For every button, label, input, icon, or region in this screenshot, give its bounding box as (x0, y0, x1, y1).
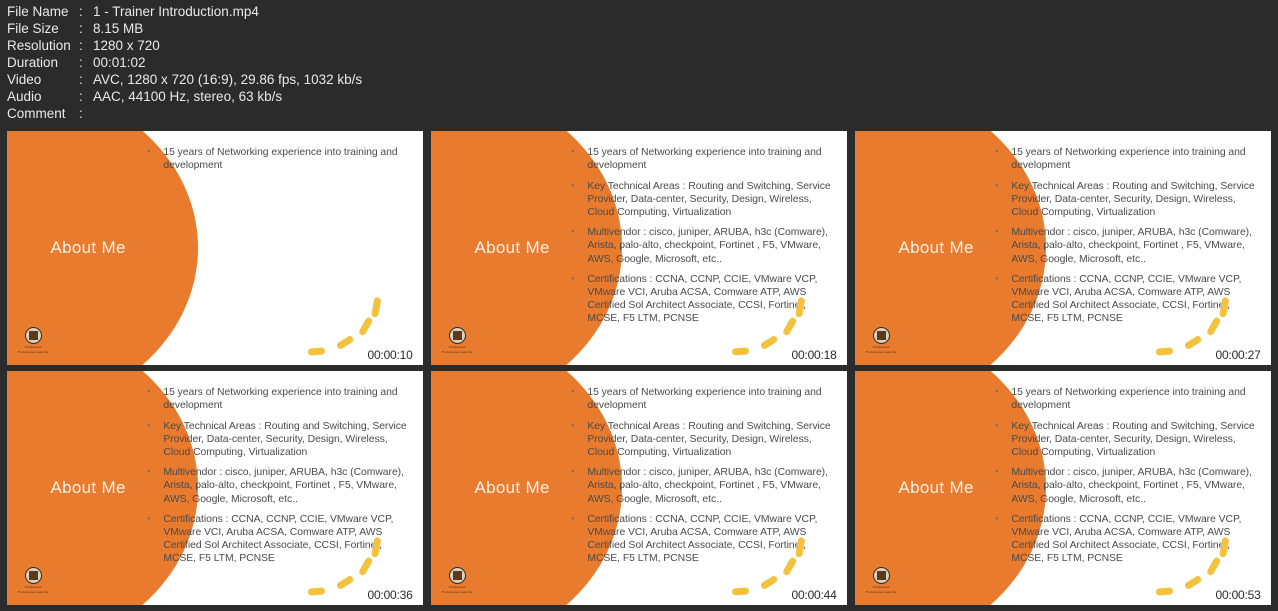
metadata-colon: : (79, 37, 93, 54)
video-thumbnail[interactable]: About Me15 years of Networking experienc… (431, 371, 847, 605)
slide-canvas: About Me15 years of Networking experienc… (431, 131, 847, 365)
metadata-row: Audio:AAC, 44100 Hz, stereo, 63 kb/s (7, 88, 1278, 105)
metadata-colon: : (79, 105, 93, 122)
metadata-row: File Name:1 - Trainer Introduction.mp4 (7, 3, 1278, 20)
metadata-label: Resolution (7, 37, 79, 54)
yellow-arc-dash-decoration (336, 334, 355, 349)
slide-bullet-item: 15 years of Networking experience into t… (570, 386, 834, 412)
metadata-label: File Size (7, 20, 79, 37)
metadata-row: Video:AVC, 1280 x 720 (16:9), 29.86 fps,… (7, 71, 1278, 88)
logo-caption-secondary: Professional Learning (440, 590, 474, 594)
yellow-arc-dash-decoration (358, 317, 373, 337)
slide-bullet-item: Key Technical Areas : Routing and Switch… (994, 420, 1258, 460)
logo-caption-primary: Zl-Networks (440, 345, 474, 349)
yellow-arc-dash-decoration (1156, 587, 1173, 595)
video-thumbnail[interactable]: About Me15 years of Networking experienc… (431, 131, 847, 365)
yellow-arc-dash-decoration (336, 574, 355, 589)
zl-networks-logo-icon: Zl-NetworksProfessional Learning (864, 567, 898, 597)
metadata-value: 8.15 MB (93, 20, 1278, 37)
logo-mark-icon (25, 567, 42, 584)
slide-heading: About Me (26, 478, 151, 498)
slide-bullet-item: Multivendor : cisco, juniper, ARUBA, h3c… (570, 226, 834, 266)
slide-bullet-item: 15 years of Networking experience into t… (146, 386, 410, 412)
file-metadata-panel: File Name:1 - Trainer Introduction.mp4Fi… (0, 0, 1278, 128)
logo-caption-primary: Zl-Networks (16, 345, 50, 349)
metadata-colon: : (79, 20, 93, 37)
metadata-label: Comment (7, 105, 79, 122)
metadata-colon: : (79, 3, 93, 20)
yellow-arc-dash-decoration (308, 587, 325, 595)
slide-bullet-list: 15 years of Networking experience into t… (570, 386, 834, 572)
slide-bullet-item: Key Technical Areas : Routing and Switch… (570, 420, 834, 460)
logo-mark-icon (873, 567, 890, 584)
metadata-row: Resolution:1280 x 720 (7, 37, 1278, 54)
metadata-colon: : (79, 71, 93, 88)
slide-bullet-list: 15 years of Networking experience into t… (570, 146, 834, 332)
slide-bullet-item: Multivendor : cisco, juniper, ARUBA, h3c… (570, 466, 834, 506)
logo-caption-secondary: Professional Learning (864, 590, 898, 594)
logo-mark-icon (25, 327, 42, 344)
slide-bullet-item: Key Technical Areas : Routing and Switch… (994, 180, 1258, 220)
slide-heading: About Me (450, 238, 575, 258)
thumbnail-timestamp: 00:00:18 (791, 348, 836, 362)
slide-bullet-item: Multivendor : cisco, juniper, ARUBA, h3c… (994, 226, 1258, 266)
metadata-row: File Size:8.15 MB (7, 20, 1278, 37)
thumbnail-timestamp: 00:00:53 (1215, 588, 1260, 602)
slide-bullet-item: Key Technical Areas : Routing and Switch… (570, 180, 834, 220)
slide-canvas: About Me15 years of Networking experienc… (855, 131, 1271, 365)
yellow-arc-dash-decoration (760, 574, 779, 589)
metadata-row: Duration:00:01:02 (7, 54, 1278, 71)
slide-bullet-item: 15 years of Networking experience into t… (994, 386, 1258, 412)
slide-canvas: About Me15 years of Networking experienc… (431, 371, 847, 605)
yellow-arc-dash-decoration (760, 334, 779, 349)
metadata-label: Duration (7, 54, 79, 71)
metadata-value: AVC, 1280 x 720 (16:9), 29.86 fps, 1032 … (93, 71, 1278, 88)
zl-networks-logo-icon: Zl-NetworksProfessional Learning (440, 327, 474, 357)
thumbnail-timestamp: 00:00:27 (1215, 348, 1260, 362)
slide-bullet-item: 15 years of Networking experience into t… (994, 146, 1258, 172)
yellow-arc-dash-decoration (371, 296, 381, 317)
slide-bullet-list: 15 years of Networking experience into t… (146, 146, 410, 179)
logo-mark-icon (873, 327, 890, 344)
slide-bullet-item: 15 years of Networking experience into t… (146, 146, 410, 172)
logo-caption-secondary: Professional Learning (16, 590, 50, 594)
video-thumbnail[interactable]: About Me15 years of Networking experienc… (855, 371, 1271, 605)
metadata-value: AAC, 44100 Hz, stereo, 63 kb/s (93, 88, 1278, 105)
logo-caption-primary: Zl-Networks (864, 345, 898, 349)
metadata-value: 1280 x 720 (93, 37, 1278, 54)
thumbnail-timestamp: 00:00:36 (367, 588, 412, 602)
yellow-arc-dash-decoration (1156, 347, 1173, 355)
logo-caption-primary: Zl-Networks (16, 585, 50, 589)
slide-bullet-item: Multivendor : cisco, juniper, ARUBA, h3c… (146, 466, 410, 506)
thumbnail-timestamp: 00:00:44 (791, 588, 836, 602)
slide-bullet-list: 15 years of Networking experience into t… (146, 386, 410, 572)
metadata-colon: : (79, 54, 93, 71)
metadata-value: 1 - Trainer Introduction.mp4 (93, 3, 1278, 20)
metadata-colon: : (79, 88, 93, 105)
logo-caption-secondary: Professional Learning (440, 350, 474, 354)
logo-mark-icon (449, 567, 466, 584)
video-thumbnail[interactable]: About Me15 years of Networking experienc… (855, 131, 1271, 365)
slide-bullet-item: Multivendor : cisco, juniper, ARUBA, h3c… (994, 466, 1258, 506)
slide-heading: About Me (26, 238, 151, 258)
logo-caption-secondary: Professional Learning (16, 350, 50, 354)
slide-canvas: About Me15 years of Networking experienc… (855, 371, 1271, 605)
yellow-arc-dash-decoration (732, 347, 749, 355)
yellow-arc-dash-decoration (308, 347, 325, 355)
slide-canvas: About Me15 years of Networking experienc… (7, 371, 423, 605)
thumbnail-grid: About Me15 years of Networking experienc… (7, 131, 1271, 605)
logo-caption-primary: Zl-Networks (440, 585, 474, 589)
logo-caption-secondary: Professional Learning (864, 350, 898, 354)
thumbnail-timestamp: 00:00:10 (367, 348, 412, 362)
video-thumbnail[interactable]: About Me15 years of Networking experienc… (7, 371, 423, 605)
logo-mark-icon (449, 327, 466, 344)
video-thumbnail[interactable]: About Me15 years of Networking experienc… (7, 131, 423, 365)
metadata-value: 00:01:02 (93, 54, 1278, 71)
metadata-label: Video (7, 71, 79, 88)
yellow-arc-dash-decoration (1184, 334, 1203, 349)
metadata-label: Audio (7, 88, 79, 105)
yellow-arc-dash-decoration (732, 587, 749, 595)
metadata-label: File Name (7, 3, 79, 20)
slide-heading: About Me (874, 478, 999, 498)
slide-heading: About Me (450, 478, 575, 498)
slide-bullet-list: 15 years of Networking experience into t… (994, 386, 1258, 572)
metadata-row: Comment: (7, 105, 1278, 122)
slide-bullet-list: 15 years of Networking experience into t… (994, 146, 1258, 332)
slide-canvas: About Me15 years of Networking experienc… (7, 131, 423, 365)
zl-networks-logo-icon: Zl-NetworksProfessional Learning (440, 567, 474, 597)
zl-networks-logo-icon: Zl-NetworksProfessional Learning (16, 567, 50, 597)
slide-heading: About Me (874, 238, 999, 258)
yellow-arc-dash-decoration (1184, 574, 1203, 589)
zl-networks-logo-icon: Zl-NetworksProfessional Learning (864, 327, 898, 357)
slide-bullet-item: Key Technical Areas : Routing and Switch… (146, 420, 410, 460)
zl-networks-logo-icon: Zl-NetworksProfessional Learning (16, 327, 50, 357)
slide-bullet-item: 15 years of Networking experience into t… (570, 146, 834, 172)
logo-caption-primary: Zl-Networks (864, 585, 898, 589)
